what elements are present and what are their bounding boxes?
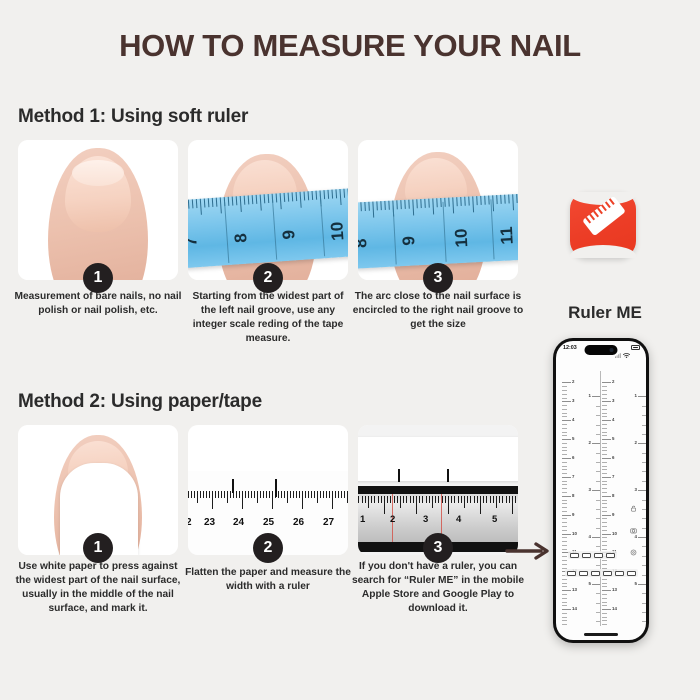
ruler-number: 24 bbox=[233, 517, 244, 528]
center-spine bbox=[600, 371, 601, 626]
ruler-number: 4 bbox=[456, 514, 461, 525]
ruler-number: 2 bbox=[390, 514, 395, 525]
ruler-app-screen[interactable]: 12:03 234567891011121314 234567891011121… bbox=[556, 341, 646, 640]
key[interactable] bbox=[615, 571, 624, 576]
phone-mockup: 12:03 234567891011121314 234567891011121… bbox=[553, 338, 649, 643]
step-badge-6: 3 bbox=[423, 533, 453, 563]
page-title: HOW TO MEASURE YOUR NAIL bbox=[0, 28, 700, 64]
home-indicator[interactable] bbox=[584, 633, 618, 636]
ruler-number: 2 bbox=[188, 517, 192, 528]
status-bar-time: 12:03 bbox=[563, 345, 577, 351]
method-2-step-3-caption: If you don't have a ruler, you can searc… bbox=[350, 560, 526, 616]
right-arrow-icon bbox=[505, 541, 553, 561]
app-name-label: Ruler ME bbox=[540, 303, 670, 323]
camera-icon[interactable] bbox=[630, 521, 637, 528]
tape-number: 9 bbox=[399, 235, 419, 246]
method-1-step-2-image: 7 8 9 10 bbox=[188, 140, 348, 280]
method-2-heading: Method 2: Using paper/tape bbox=[18, 391, 262, 413]
key[interactable] bbox=[591, 571, 600, 576]
key[interactable] bbox=[567, 571, 576, 576]
cellular-signal-icon bbox=[615, 345, 621, 350]
ruler-number: 27 bbox=[323, 517, 334, 528]
left-scale: 234567891011121314 bbox=[562, 373, 588, 626]
method-1-heading: Method 1: Using soft ruler bbox=[18, 106, 248, 128]
ruler-app-icon[interactable] bbox=[570, 192, 636, 258]
method-1-step-3-image: 8 9 10 11 bbox=[358, 140, 518, 280]
key[interactable] bbox=[570, 553, 579, 558]
key[interactable] bbox=[606, 553, 615, 558]
step-badge-3: 3 bbox=[423, 263, 453, 293]
dynamic-island bbox=[585, 345, 618, 355]
tape-number: 11 bbox=[497, 226, 518, 245]
tape-number: 10 bbox=[451, 228, 472, 248]
settings-icon[interactable] bbox=[630, 543, 637, 550]
ruler-number: 1 bbox=[360, 514, 365, 525]
status-bar-icons bbox=[615, 345, 640, 350]
method-1-step-1-image bbox=[18, 140, 178, 280]
ruler-number: 26 bbox=[293, 517, 304, 528]
battery-icon bbox=[631, 345, 640, 350]
ruler-number: 3 bbox=[423, 514, 428, 525]
wifi-icon bbox=[623, 345, 629, 350]
ruler-number: 25 bbox=[263, 517, 274, 528]
ruler-number: 23 bbox=[204, 517, 215, 528]
center-scale: 234567891011121314 bbox=[602, 373, 626, 626]
tape-number: 9 bbox=[279, 229, 300, 240]
tape-number: 7 bbox=[188, 236, 202, 247]
step-badge-2: 2 bbox=[253, 263, 283, 293]
step-badge-1: 1 bbox=[83, 263, 113, 293]
lock-icon[interactable] bbox=[630, 499, 637, 506]
key-row-bottom[interactable] bbox=[565, 569, 638, 577]
infographic-page: HOW TO MEASURE YOUR NAIL Method 1: Using… bbox=[0, 0, 700, 700]
step-badge-5: 2 bbox=[253, 533, 283, 563]
key[interactable] bbox=[582, 553, 591, 558]
step-badge-4: 1 bbox=[83, 533, 113, 563]
method-1-step-3-caption: The arc close to the nail surface is enc… bbox=[352, 290, 524, 332]
method-1-step-1-caption: Measurement of bare nails, no nail polis… bbox=[14, 290, 182, 318]
tape-number: 10 bbox=[327, 221, 348, 241]
tape-number: 8 bbox=[358, 238, 371, 249]
key-row-top[interactable] bbox=[568, 551, 617, 559]
method-2-step-1-caption: Use white paper to press against the wid… bbox=[14, 560, 182, 616]
center-left-scale: 12345 bbox=[586, 373, 600, 626]
tape-number: 8 bbox=[231, 233, 252, 244]
key[interactable] bbox=[594, 553, 603, 558]
key[interactable] bbox=[579, 571, 588, 576]
key[interactable] bbox=[603, 571, 612, 576]
method-1-step-2-caption: Starting from the widest part of the lef… bbox=[184, 290, 352, 346]
key[interactable] bbox=[627, 571, 636, 576]
ruler-number: 5 bbox=[492, 514, 497, 525]
method-2-step-2-caption: Flatten the paper and measure the width … bbox=[184, 566, 352, 594]
